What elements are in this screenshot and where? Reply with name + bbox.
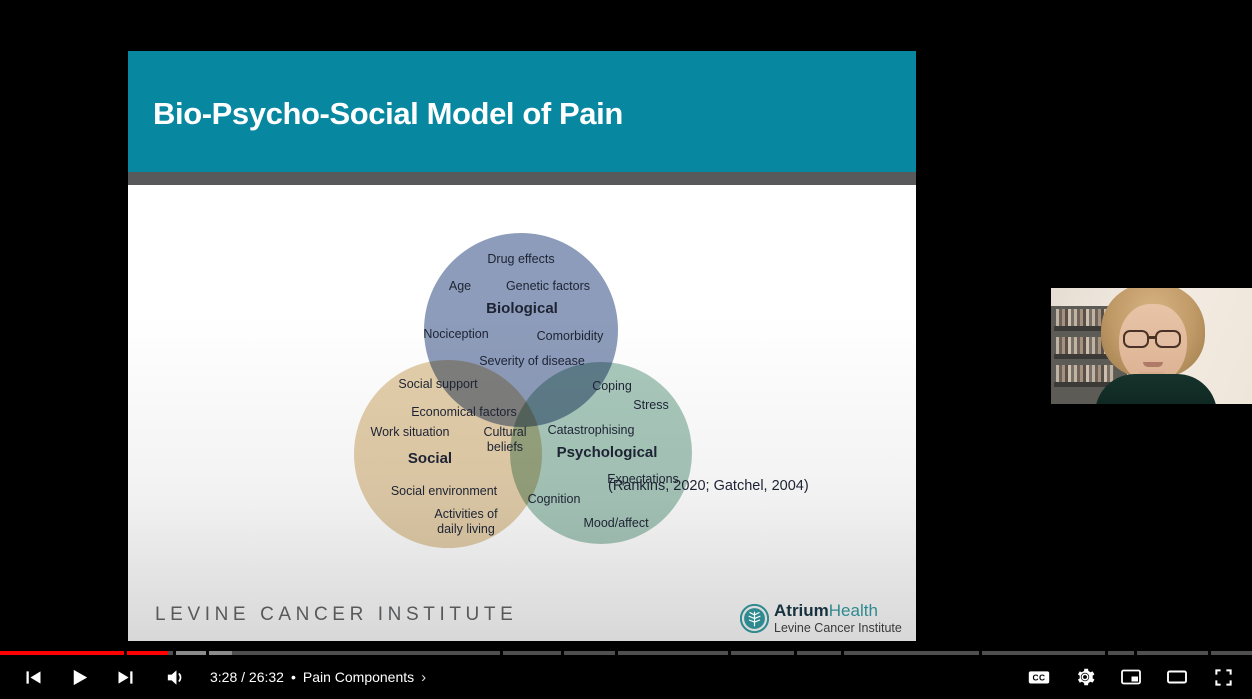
venn-label-comorbidity: Comorbidity: [518, 329, 622, 344]
venn-label-age: Age: [438, 279, 482, 294]
venn-label-cognition: Cognition: [510, 492, 598, 507]
logo-brand-bold: Atrium: [774, 601, 829, 620]
slide-title: Bio-Psycho-Social Model of Pain: [153, 96, 623, 132]
logo-wordmark: AtriumHealth Levine Cancer Institute: [774, 602, 902, 636]
venn-label-mood-affect: Mood/affect: [564, 516, 668, 531]
next-video-button[interactable]: [102, 655, 148, 699]
slide-title-underline: [128, 172, 916, 185]
captions-button[interactable]: CC: [1016, 655, 1062, 699]
presenter-camera-overlay: [1051, 288, 1252, 404]
slide-citation: (Rankins, 2020; Gatchel, 2004): [608, 478, 809, 494]
venn-label-catastrophising: Catastrophising: [528, 423, 654, 438]
fullscreen-button[interactable]: [1200, 655, 1246, 699]
venn-label-social-support: Social support: [383, 377, 493, 392]
right-controls: CC: [1016, 655, 1246, 699]
slide-footer-institute-name: LEVINE CANCER INSTITUTE: [155, 604, 517, 626]
venn-label-genetic-factors: Genetic factors: [488, 279, 608, 294]
presentation-slide: Bio-Psycho-Social Model of Pain Drug eff…: [128, 51, 916, 641]
tree-in-circle-icon: [740, 604, 769, 633]
presenter-mouth: [1143, 362, 1163, 367]
venn-label-nociception: Nociception: [404, 327, 508, 342]
time-display: 3:28 / 26:32: [210, 669, 284, 685]
left-controls: 3:28 / 26:32 • Pain Components ›: [10, 655, 426, 699]
logo-subline: Levine Cancer Institute: [774, 621, 902, 636]
venn-label-activities-of-daily-living: Activities of daily living: [422, 507, 510, 537]
previous-video-button[interactable]: [10, 655, 56, 699]
eyeglasses-left-lens-icon: [1123, 330, 1149, 348]
venn-title-biological: Biological: [466, 300, 578, 318]
eyeglasses-bridge: [1149, 336, 1157, 339]
play-button[interactable]: [56, 655, 102, 699]
eyeglasses-right-lens-icon: [1155, 330, 1181, 348]
svg-text:CC: CC: [1033, 673, 1046, 683]
venn-label-stress: Stress: [620, 398, 682, 413]
chevron-right-icon[interactable]: ›: [421, 669, 426, 686]
logo-brand-light: Health: [829, 601, 878, 620]
venn-diagram: Drug effects Age Genetic factors Biologi…: [128, 185, 916, 641]
venn-label-social-environment: Social environment: [376, 484, 512, 499]
volume-button[interactable]: [152, 655, 198, 699]
miniplayer-button[interactable]: [1108, 655, 1154, 699]
time-and-chapter-display: 3:28 / 26:32 • Pain Components ›: [210, 669, 426, 686]
player-control-bar[interactable]: 3:28 / 26:32 • Pain Components › CC: [0, 655, 1252, 699]
separator-dot: •: [291, 669, 296, 685]
venn-label-severity-of-disease: Severity of disease: [458, 354, 606, 369]
settings-gear-button[interactable]: [1062, 655, 1108, 699]
venn-label-drug-effects: Drug effects: [471, 252, 571, 267]
chapter-title[interactable]: Pain Components: [303, 669, 414, 685]
venn-title-social: Social: [390, 450, 470, 468]
venn-label-work-situation: Work situation: [354, 425, 466, 440]
venn-label-coping: Coping: [580, 379, 644, 394]
atrium-health-logo: AtriumHealth Levine Cancer Institute: [740, 602, 915, 636]
youtube-video-player[interactable]: Bio-Psycho-Social Model of Pain Drug eff…: [0, 0, 1252, 699]
theater-mode-button[interactable]: [1154, 655, 1200, 699]
venn-label-economical-factors: Economical factors: [396, 405, 532, 420]
venn-title-psychological: Psychological: [532, 444, 682, 462]
